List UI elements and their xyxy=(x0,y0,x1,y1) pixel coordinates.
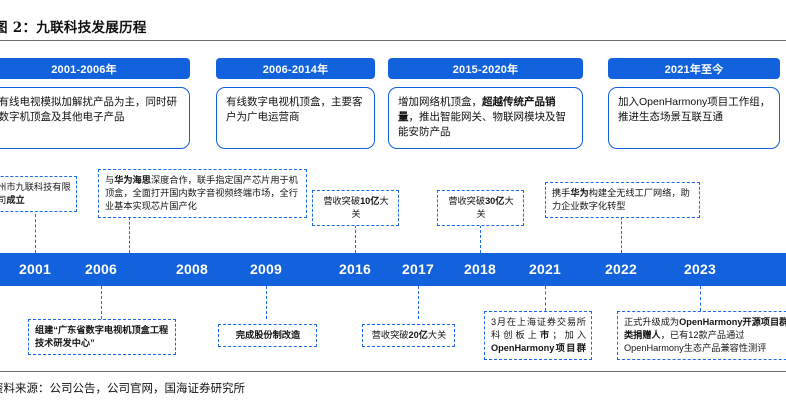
timeline-year-2009: 2009 xyxy=(250,253,282,286)
timeline-year-2017: 2017 xyxy=(402,253,434,286)
phase-card-3: 2021年至今 加入OpenHarmony项目工作组，推进生态场景互联互通 xyxy=(608,58,780,149)
timeline-year-2006: 2006 xyxy=(85,253,117,286)
phase-period-label: 2006-2014年 xyxy=(216,58,375,79)
phase-description: 加入OpenHarmony项目工作组，推进生态场景互联互通 xyxy=(608,87,780,149)
phase-card-0: 2001-2006年 以有线电视模拟加解扰产品为主，同时研发数字机顶盒及其他电子… xyxy=(0,58,190,149)
event-note-above-2022: 携手华为构建全无线工厂网络，助力企业数字化转型 xyxy=(545,182,700,218)
footer-divider xyxy=(0,371,786,372)
event-note-text: 正式升级成为OpenHarmony开源项目群A类捐赠人，已有12款产品通过Ope… xyxy=(624,317,786,353)
phase-period-label: 2021年至今 xyxy=(608,58,780,79)
event-note-below-2009: 完成股份制改造 xyxy=(218,324,317,347)
event-note-text: 3月在上海证券交易所科创板上市；加入OpenHarmony项目群 xyxy=(491,317,586,353)
connector-2022 xyxy=(621,212,622,253)
timeline-year-2023: 2023 xyxy=(684,253,716,286)
timeline-bar: 2001 2006 2008 2009 2016 2017 2018 2021 … xyxy=(0,253,786,286)
event-note-text: 完成股份制改造 xyxy=(236,330,300,340)
page-title: 图 2：九联科技发展历程 xyxy=(0,16,147,36)
figure-container: 图 2：九联科技发展历程 2001-2006年 以有线电视模拟加解扰产品为主，同… xyxy=(0,0,786,402)
timeline-year-2001: 2001 xyxy=(19,253,51,286)
title-divider xyxy=(0,40,786,41)
connector-2009 xyxy=(266,286,267,319)
event-note-below-2021: 3月在上海证券交易所科创板上市；加入OpenHarmony项目群 xyxy=(484,311,592,360)
event-note-text: 惠州市九联科技有限公司成立 xyxy=(0,182,71,205)
connector-2023 xyxy=(700,286,701,311)
source-note: 资料来源：公司公告，公司官网，国海证券研究所 xyxy=(0,380,245,396)
timeline-year-2022: 2022 xyxy=(605,253,637,286)
event-note-above-2018: 营收突破30亿大关 xyxy=(437,190,524,226)
phase-period-label: 2001-2006年 xyxy=(0,58,190,79)
phase-description-rich: 增加网络机顶盒，超越传统产品销量，推出智能网关、物联网模块及智能安防产品 xyxy=(398,96,566,138)
event-note-text: 与华为海思深度合作，联手指定国产芯片用于机顶盒，全面打开国内数字音视频终端市场，… xyxy=(105,175,298,211)
timeline-year-2018: 2018 xyxy=(464,253,496,286)
connector-2021 xyxy=(545,286,546,311)
event-note-below-2006: 组建“广东省数字电视机顶盒工程技术研发中心” xyxy=(28,319,176,355)
phase-period-label: 2015-2020年 xyxy=(388,58,583,79)
phase-description: 以有线电视模拟加解扰产品为主，同时研发数字机顶盒及其他电子产品 xyxy=(0,87,190,149)
event-note-below-2023: 正式升级成为OpenHarmony开源项目群A类捐赠人，已有12款产品通过Ope… xyxy=(617,311,786,360)
event-note-below-2017: 营收突破20亿大关 xyxy=(362,324,455,347)
event-note-text: 营收突破20亿大关 xyxy=(372,330,447,340)
connector-2006 xyxy=(101,286,102,319)
phase-description-text: 有线数字电视机顶盒，主要客户为广电运营商 xyxy=(226,96,363,123)
connector-2001 xyxy=(35,209,36,253)
event-note-text: 营收突破30亿大关 xyxy=(448,196,513,219)
phase-description-text: 以有线电视模拟加解扰产品为主，同时研发数字机顶盒及其他电子产品 xyxy=(0,96,177,123)
timeline-year-2021: 2021 xyxy=(529,253,561,286)
phase-description-text: 加入OpenHarmony项目工作组，推进生态场景互联互通 xyxy=(618,96,770,123)
phase-description: 有线数字电视机顶盒，主要客户为广电运营商 xyxy=(216,87,375,149)
connector-2008-lower xyxy=(129,217,130,253)
event-note-above-2008: 与华为海思深度合作，联手指定国产芯片用于机顶盒，全面打开国内数字音视频终端市场，… xyxy=(98,169,307,218)
event-note-text: 携手华为构建全无线工厂网络，助力企业数字化转型 xyxy=(552,188,690,211)
connector-2017 xyxy=(418,286,419,319)
phase-card-2: 2015-2020年 增加网络机顶盒，超越传统产品销量，推出智能网关、物联网模块… xyxy=(388,58,583,149)
event-note-above-2001: 惠州市九联科技有限公司成立 xyxy=(0,176,77,212)
phase-card-1: 2006-2014年 有线数字电视机顶盒，主要客户为广电运营商 xyxy=(216,58,375,149)
phase-description: 增加网络机顶盒，超越传统产品销量，推出智能网关、物联网模块及智能安防产品 xyxy=(388,87,583,149)
timeline-year-2008: 2008 xyxy=(176,253,208,286)
timeline-year-2016: 2016 xyxy=(339,253,371,286)
event-note-text: 组建“广东省数字电视机顶盒工程技术研发中心” xyxy=(35,325,168,348)
event-note-above-2016: 营收突破10亿大关 xyxy=(312,190,399,226)
event-note-text: 营收突破10亿大关 xyxy=(323,196,388,219)
